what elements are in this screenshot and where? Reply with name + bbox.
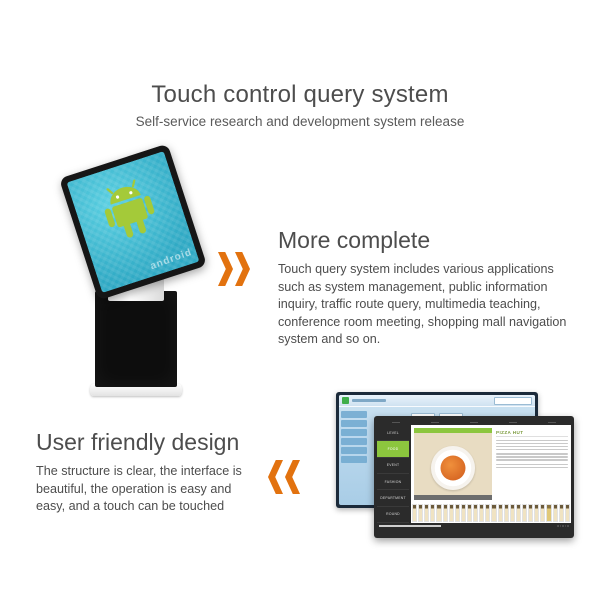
thumbnail-filmstrip[interactable] (411, 503, 571, 523)
window-titlebar (339, 395, 535, 407)
sidebar-row[interactable] (341, 438, 367, 445)
chevron-left-icon-2 (285, 460, 300, 494)
section-more-complete: More complete Touch query system include… (278, 226, 570, 349)
photo-caption-bar (414, 495, 492, 500)
text-line (496, 449, 568, 450)
kiosk-category-menu: LEVEL FOOD EVENT FASHION DEPARTMENT ROUN… (377, 425, 409, 523)
menu-item-round[interactable]: ROUND (377, 507, 409, 523)
section-user-friendly-design: User friendly design The structure is cl… (36, 428, 262, 516)
kiosk-ui-body: LEVEL FOOD EVENT FASHION DEPARTMENT ROUN… (377, 425, 571, 523)
thumbnail[interactable] (412, 504, 417, 522)
page-header: Touch control query system Self-service … (0, 80, 600, 131)
article-panel: PIZZA HUT (495, 428, 568, 500)
page-subtitle: Self-service research and development sy… (0, 113, 600, 131)
kiosk-device-illustration: android (70, 158, 202, 396)
kiosk-display-panel: android (59, 144, 207, 301)
section-title: More complete (278, 226, 570, 254)
article-paragraph (496, 464, 568, 468)
soup-photo (414, 433, 492, 495)
sidebar-row[interactable] (341, 420, 367, 427)
kiosk-content-area: PIZZA HUT (411, 425, 571, 523)
kiosk-detail-pane: PIZZA HUT (411, 425, 571, 503)
text-line (496, 443, 568, 444)
kiosk-status-bar: 0 / 0 / 0 (377, 523, 571, 528)
soup-shape (441, 455, 466, 480)
thumbnail[interactable] (455, 504, 460, 522)
sidebar-row[interactable] (341, 411, 367, 418)
thumbnail[interactable] (540, 504, 545, 522)
thumbnail[interactable] (491, 504, 496, 522)
thumbnail[interactable] (424, 504, 429, 522)
search-input[interactable] (494, 397, 532, 405)
window-sidebar (341, 411, 367, 463)
text-line (496, 446, 568, 447)
android-wordmark: android (149, 247, 194, 272)
section-body: The structure is clear, the interface is… (36, 463, 262, 516)
screens-illustration: LEVEL FOOD EVENT FASHION DEPARTMENT ROUN… (336, 392, 574, 538)
article-paragraph (496, 440, 568, 450)
top-control (548, 422, 556, 423)
thumbnail[interactable] (534, 504, 539, 522)
thumbnail[interactable] (418, 504, 423, 522)
thumbnail[interactable] (504, 504, 509, 522)
section-body: Touch query system includes various appl… (278, 261, 570, 349)
menu-item-food[interactable]: FOOD (377, 441, 409, 457)
text-line (496, 453, 568, 454)
thumbnail[interactable] (479, 504, 484, 522)
thumbnail[interactable] (430, 504, 435, 522)
thumbnail[interactable] (516, 504, 521, 522)
status-text: 0 / 0 / 0 (557, 524, 569, 528)
thumbnail[interactable] (485, 504, 490, 522)
thumbnail[interactable] (449, 504, 454, 522)
thumbnail[interactable] (498, 504, 503, 522)
menu-item-department[interactable]: DEPARTMENT (377, 490, 409, 506)
sidebar-row[interactable] (341, 456, 367, 463)
top-control (470, 422, 478, 423)
article-heading: PIZZA HUT (496, 430, 568, 437)
thumbnail-selected[interactable] (546, 504, 551, 522)
thumbnail[interactable] (467, 504, 472, 522)
text-line (496, 440, 568, 441)
text-line (496, 456, 568, 457)
thumbnail[interactable] (553, 504, 558, 522)
text-line (496, 467, 568, 468)
app-logo-icon (342, 397, 349, 404)
progress-indicator[interactable] (379, 525, 441, 527)
thumbnail[interactable] (528, 504, 533, 522)
double-chevron-left-icon (268, 460, 300, 494)
thumbnail[interactable] (461, 504, 466, 522)
chevron-left-icon-1 (268, 460, 283, 494)
menu-item-level[interactable]: LEVEL (377, 425, 409, 441)
page-title: Touch control query system (0, 80, 600, 110)
thumbnail[interactable] (559, 504, 564, 522)
menu-item-event[interactable]: EVENT (377, 458, 409, 474)
android-robot-icon (95, 176, 164, 246)
kiosk-pedestal (95, 291, 177, 387)
poster-canvas: Touch control query system Self-service … (0, 0, 600, 600)
chevron-right-icon-2 (235, 252, 250, 286)
text-line (496, 464, 568, 465)
text-line (496, 459, 568, 460)
menu-item-fashion[interactable]: FASHION (377, 474, 409, 490)
window-title-placeholder (352, 399, 386, 402)
food-photo-card (414, 428, 492, 500)
thumbnail[interactable] (443, 504, 448, 522)
thumbnail[interactable] (473, 504, 478, 522)
thumbnail[interactable] (510, 504, 515, 522)
top-control (431, 422, 439, 423)
article-paragraph (496, 453, 568, 460)
section-title: User friendly design (36, 428, 262, 456)
thumbnail[interactable] (522, 504, 527, 522)
top-control (392, 422, 400, 423)
double-chevron-right-icon (218, 252, 250, 286)
kiosk-screen: android (67, 151, 200, 293)
thumbnail[interactable] (565, 504, 570, 522)
sidebar-row[interactable] (341, 447, 367, 454)
top-control (509, 422, 517, 423)
thumbnail[interactable] (436, 504, 441, 522)
sidebar-row[interactable] (341, 429, 367, 436)
foreground-touch-kiosk-ui: LEVEL FOOD EVENT FASHION DEPARTMENT ROUN… (374, 416, 574, 538)
chevron-right-icon-1 (218, 252, 233, 286)
